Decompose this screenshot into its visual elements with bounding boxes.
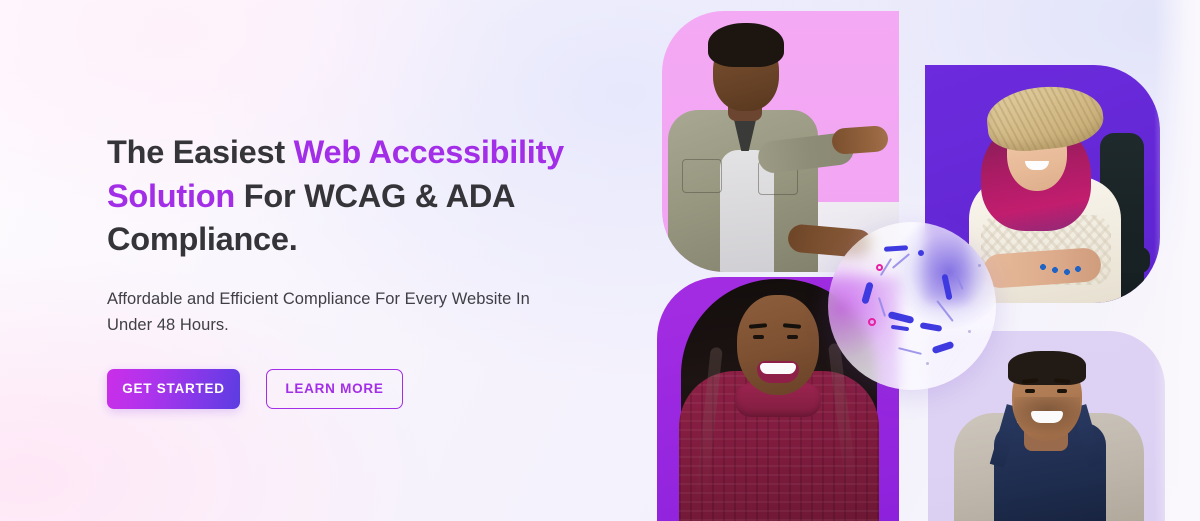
eye-right	[787, 335, 798, 339]
orb-arc-4	[936, 300, 954, 322]
teeth-shape	[760, 363, 796, 374]
orb-dot-blue-1	[918, 250, 924, 256]
orb-dash-2	[861, 281, 874, 304]
orb-dash-4	[888, 311, 915, 324]
eye-left	[1025, 389, 1035, 393]
smile-shape	[1031, 411, 1063, 423]
orb-arc-6	[898, 347, 922, 355]
orb-speck-1	[978, 264, 981, 267]
orb-arc-2	[892, 253, 910, 269]
orb-dot-pink-2	[868, 318, 876, 326]
accessibility-orb-decoration	[828, 222, 996, 390]
eye-right	[1057, 389, 1067, 393]
hair-shape	[708, 23, 784, 67]
orb-dash-5	[920, 322, 943, 332]
straw-hat-weave	[984, 81, 1106, 155]
orb-speck-3	[926, 362, 929, 365]
jacket-pocket-left	[682, 159, 722, 193]
orb-dash-1	[884, 245, 908, 252]
orb-speck-2	[968, 330, 971, 333]
orb-dash-3	[941, 274, 952, 301]
hair-shape	[1008, 351, 1086, 385]
hero-image-collage	[0, 0, 1200, 521]
blue-nails	[1037, 261, 1083, 277]
collage-photo-man-at-laptop	[662, 11, 899, 272]
eye-left	[753, 335, 764, 339]
orb-dash-7	[931, 341, 954, 354]
orb-arc-3	[878, 297, 886, 317]
hero-section: The Easiest Web Accessibility Solution F…	[0, 0, 1200, 521]
pointing-hand-shape	[831, 125, 889, 155]
orb-arc-5	[954, 272, 963, 289]
orb-dot-pink-1	[876, 264, 883, 271]
orb-dash-6	[891, 325, 909, 331]
